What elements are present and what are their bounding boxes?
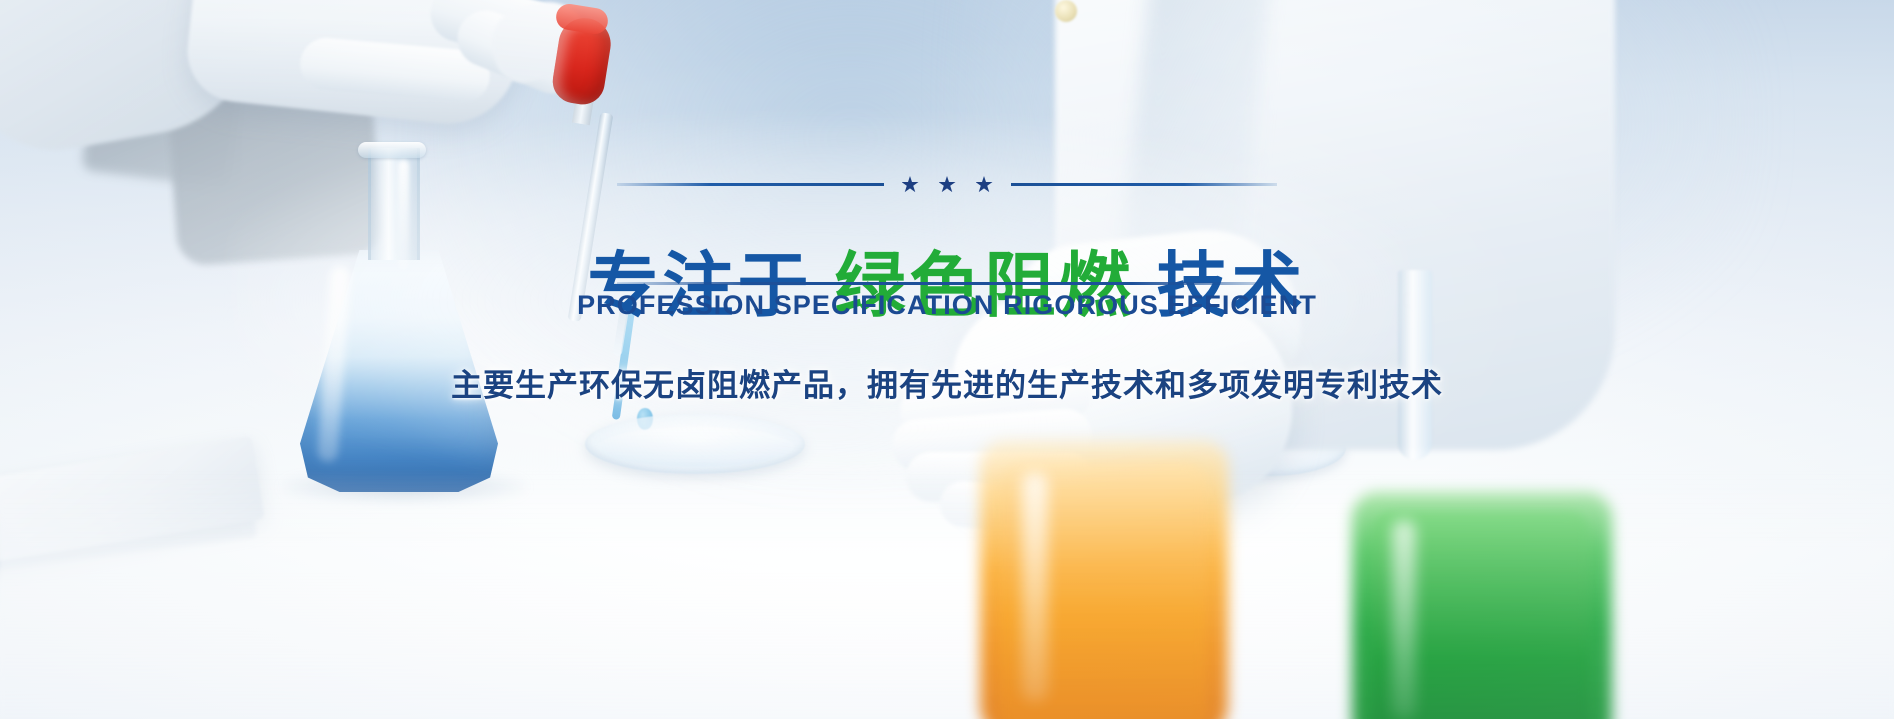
banner-subtitle: PROFESSION SPECIFICATION RIGOROUS EFFICI… [577, 290, 1317, 321]
star-icon [939, 176, 956, 193]
divider-rule-left [617, 183, 884, 186]
divider-rule-right [1011, 183, 1278, 186]
banner-tagline: 主要生产环保无卤阻燃产品，拥有先进的生产技术和多项发明专利技术 [451, 360, 1443, 405]
banner-text-overlay: 专注于绿色阻燃技术 PROFESSION SPECIFICATION RIGOR… [0, 0, 1894, 719]
decorative-stars-row [617, 176, 1277, 193]
hero-banner: 专注于绿色阻燃技术 PROFESSION SPECIFICATION RIGOR… [0, 0, 1894, 719]
divider-rule-bottom [617, 282, 1277, 285]
star-icon [976, 176, 993, 193]
star-group [884, 176, 1011, 193]
star-icon [902, 176, 919, 193]
